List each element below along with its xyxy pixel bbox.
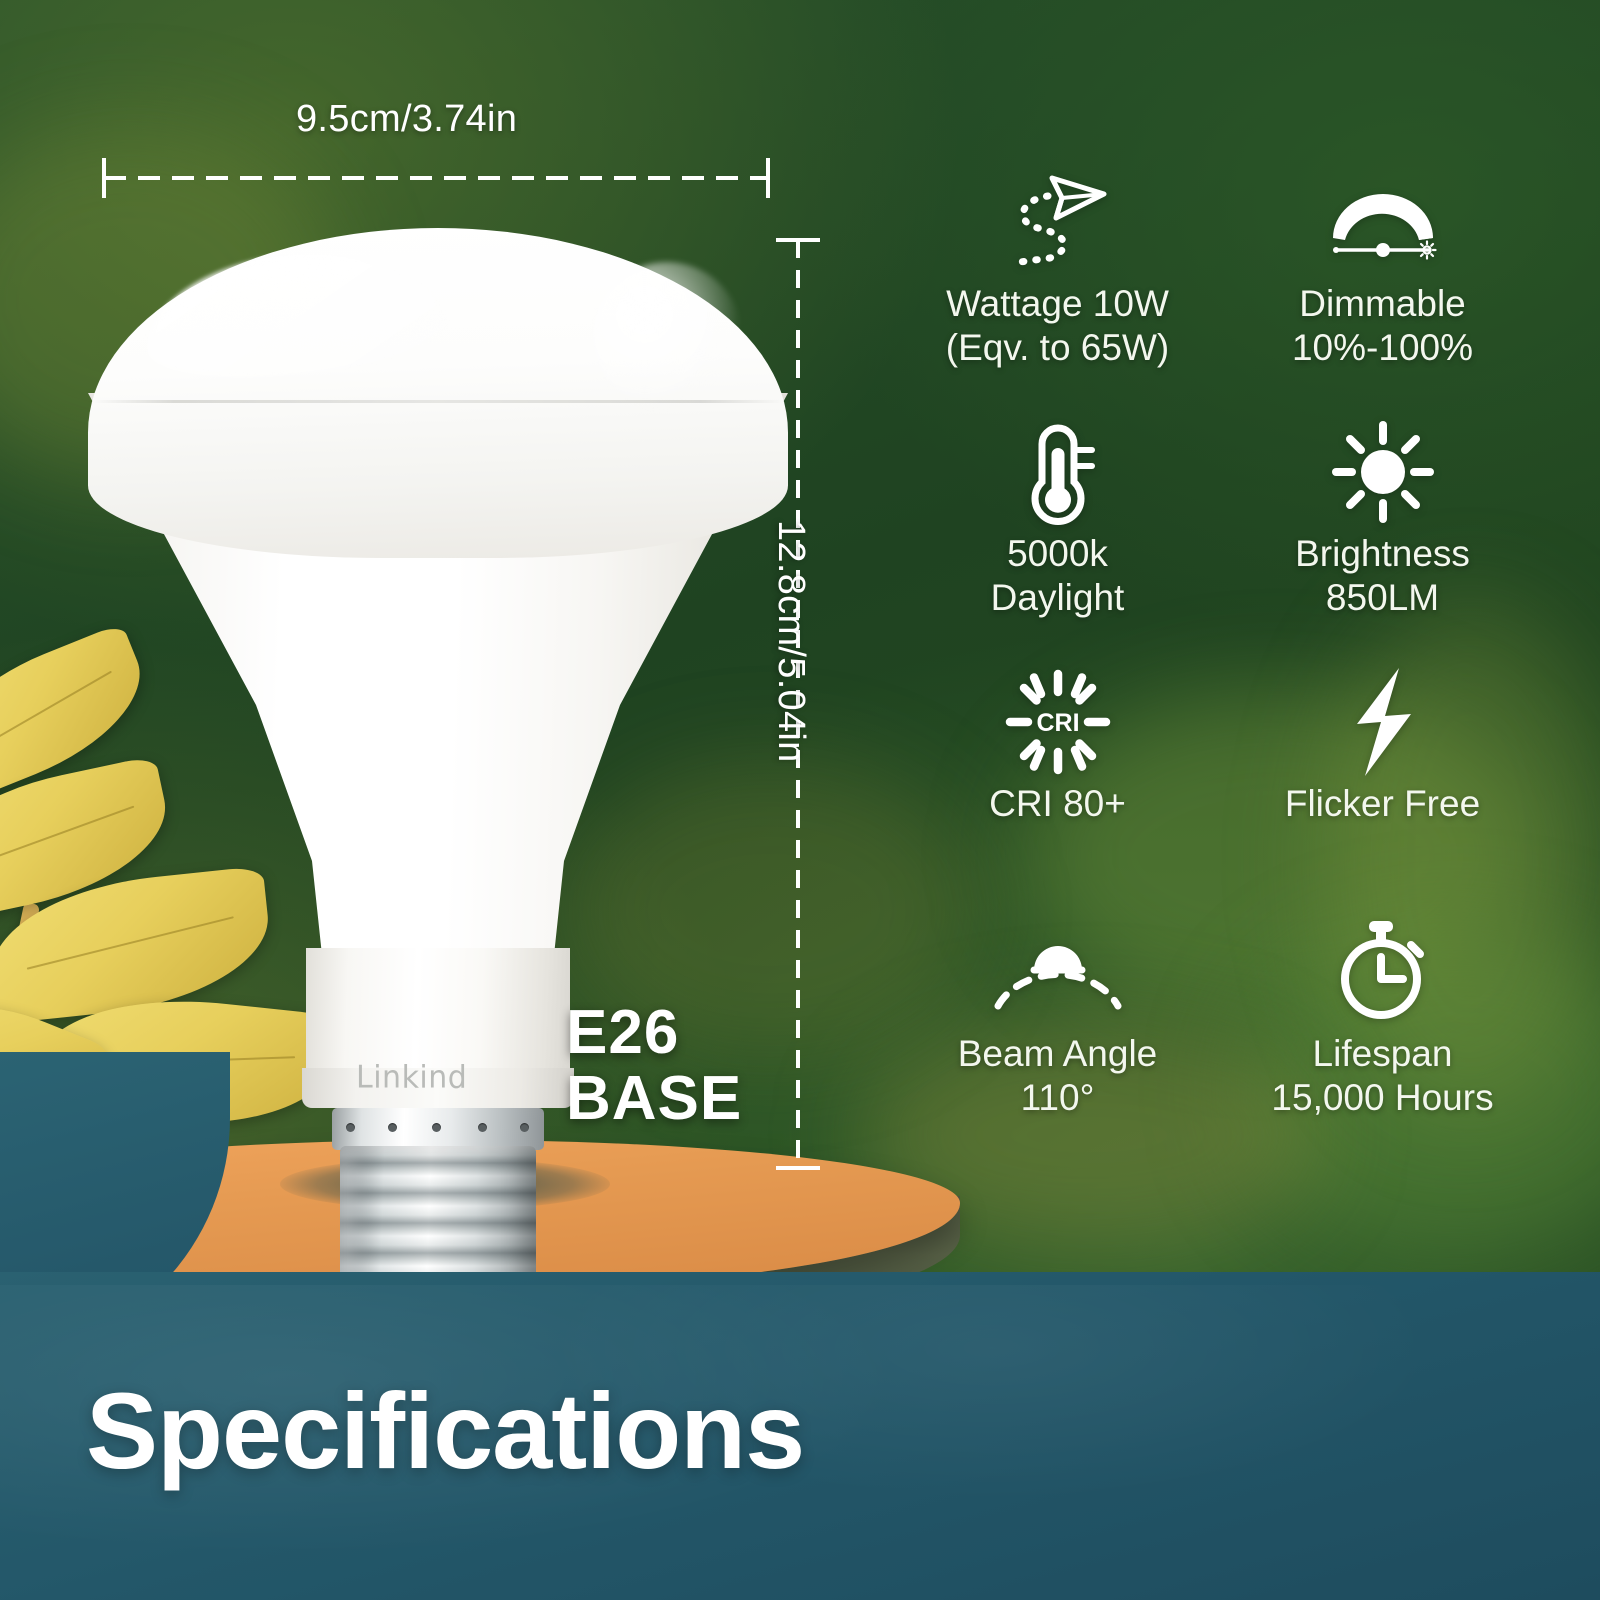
bulb-seam — [92, 400, 784, 403]
feature-label: Brightness 850LM — [1295, 532, 1470, 619]
feature-label: Dimmable 10%-100% — [1292, 282, 1473, 369]
stopwatch-icon — [1331, 918, 1435, 1026]
feature-label: Lifespan 15,000 Hours — [1271, 1032, 1493, 1119]
base-type-label: E26 BASE — [566, 1000, 742, 1131]
feature-label: Flicker Free — [1285, 782, 1480, 826]
width-tick-right — [766, 158, 770, 198]
beam-angle-icon — [990, 918, 1126, 1026]
bulb-base-collar — [332, 1108, 544, 1150]
feature-grid: Wattage 10W (Eqv. to 65W) — [900, 160, 1540, 1160]
banner-title: Specifications — [86, 1368, 804, 1493]
width-dimension-line — [104, 176, 768, 180]
feature-brightness: Brightness 850LM — [1225, 410, 1540, 660]
feature-label: 5000k Daylight — [991, 532, 1125, 619]
feature-lifespan: Lifespan 15,000 Hours — [1225, 910, 1540, 1160]
feature-color-temperature: 5000k Daylight — [900, 410, 1215, 660]
feature-label: CRI 80+ — [989, 782, 1126, 826]
infographic-canvas: Linkind 9.5cm/3.74in 12.8cm/5.04in E26 B… — [0, 0, 1600, 1600]
bulb-highlight — [592, 262, 742, 412]
thermometer-icon — [1012, 418, 1104, 526]
feature-dimmable: Dimmable 10%-100% — [1225, 160, 1540, 410]
svg-text:CRI: CRI — [1036, 709, 1079, 737]
feature-label: Wattage 10W (Eqv. to 65W) — [946, 282, 1169, 369]
sun-brightness-icon — [1330, 418, 1436, 526]
cri-burst-icon: CRI — [1005, 668, 1111, 776]
paper-plane-wattage-icon — [1004, 168, 1112, 276]
width-dimension-label: 9.5cm/3.74in — [296, 98, 517, 141]
height-tick-bottom — [776, 1166, 820, 1170]
lightning-bolt-icon — [1337, 668, 1429, 776]
dimmer-gauge-icon — [1323, 168, 1443, 276]
feature-beam-angle: Beam Angle 110° — [900, 910, 1215, 1160]
brand-logo: Linkind — [356, 1059, 467, 1096]
height-dimension-label: 12.8cm/5.04in — [769, 520, 812, 763]
feature-cri: CRI CRI 80+ — [900, 660, 1215, 910]
feature-wattage: Wattage 10W (Eqv. to 65W) — [900, 160, 1215, 410]
feature-flicker-free: Flicker Free — [1225, 660, 1540, 910]
feature-label: Beam Angle 110° — [958, 1032, 1158, 1119]
